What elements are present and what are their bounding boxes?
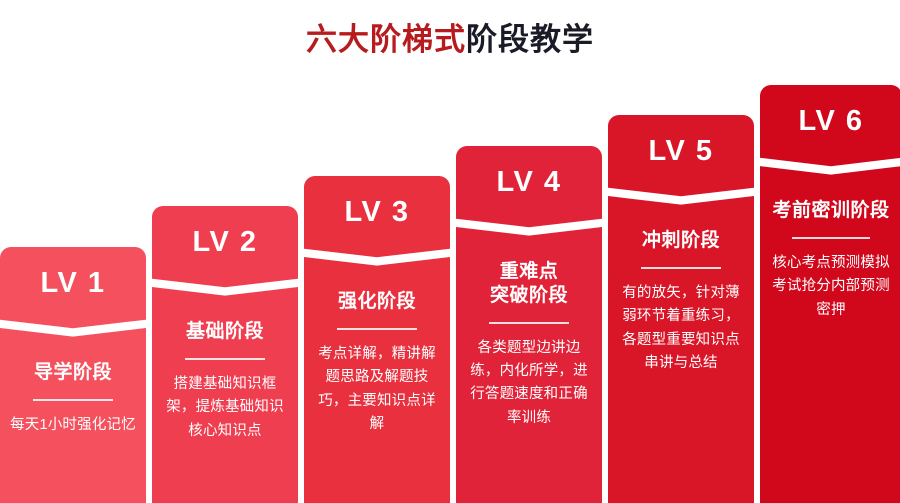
level-label: LV 4	[496, 168, 561, 197]
chevron-band	[456, 218, 602, 240]
ladder-step-header: LV 6	[760, 85, 900, 157]
stage-name: 强化阶段	[314, 290, 440, 314]
level-label: LV 6	[798, 107, 863, 136]
stage-name: 重难点突破阶段	[466, 260, 592, 308]
ladder-step-header: LV 3	[304, 176, 450, 248]
divider	[792, 237, 870, 239]
page-title-highlight: 六大阶梯式	[306, 22, 466, 57]
chevron-band	[608, 187, 754, 209]
ladder-step[interactable]: LV 4重难点突破阶段各类题型边讲边练，内化所学，进行答题速度和正确率训练	[456, 146, 602, 503]
ladder-step-body: 冲刺阶段有的放矢，针对薄弱环节着重练习，各题型重要知识点串讲与总结	[608, 209, 754, 376]
stage-name: 基础阶段	[162, 320, 288, 344]
divider	[185, 358, 266, 360]
chevron-band	[0, 319, 146, 341]
ladder-chart: LV 1导学阶段每天1小时强化记忆LV 2基础阶段搭建基础知识框架，提炼基础知识…	[0, 78, 900, 503]
chevron-notch-icon	[760, 157, 900, 179]
page-header: 六大阶梯式阶段教学	[0, 0, 900, 78]
ladder-step[interactable]: LV 3强化阶段考点详解，精讲解题思路及解题技巧，主要知识点详解	[304, 176, 450, 503]
stage-description: 搭建基础知识框架，提炼基础知识核心知识点	[162, 373, 288, 443]
stage-name: 冲刺阶段	[618, 229, 744, 253]
ladder-step-header: LV 4	[456, 146, 602, 218]
chevron-notch-icon	[608, 187, 754, 209]
ladder-step-body: 强化阶段考点详解，精讲解题思路及解题技巧，主要知识点详解	[304, 270, 450, 437]
chevron-notch-icon	[0, 319, 146, 341]
page-title: 六大阶梯式阶段教学	[306, 24, 594, 55]
ladder-step[interactable]: LV 1导学阶段每天1小时强化记忆	[0, 247, 146, 503]
chevron-band	[760, 157, 900, 179]
stage-name: 考前密训阶段	[770, 199, 892, 223]
ladder-step-body: 基础阶段搭建基础知识框架，提炼基础知识核心知识点	[152, 300, 298, 443]
level-label: LV 3	[344, 198, 409, 227]
stage-description: 核心考点预测模拟考试抢分内部预测密押	[770, 252, 892, 322]
level-label: LV 2	[192, 228, 257, 257]
stage-name: 导学阶段	[10, 361, 136, 385]
chevron-notch-icon	[304, 248, 450, 270]
ladder-step-body: 重难点突破阶段各类题型边讲边练，内化所学，进行答题速度和正确率训练	[456, 240, 602, 430]
divider	[489, 322, 570, 324]
chevron-band	[152, 278, 298, 300]
ladder-step-body: 导学阶段每天1小时强化记忆	[0, 341, 146, 437]
ladder-step-body: 考前密训阶段核心考点预测模拟考试抢分内部预测密押	[760, 179, 900, 322]
divider	[337, 328, 418, 330]
level-label: LV 1	[40, 269, 105, 298]
chevron-notch-icon	[456, 218, 602, 240]
level-label: LV 5	[648, 137, 713, 166]
page-title-rest: 阶段教学	[466, 22, 594, 57]
stage-description: 每天1小时强化记忆	[10, 414, 136, 437]
ladder-step[interactable]: LV 6考前密训阶段核心考点预测模拟考试抢分内部预测密押	[760, 85, 900, 503]
stage-description: 考点详解，精讲解题思路及解题技巧，主要知识点详解	[314, 343, 440, 437]
ladder-step-header: LV 1	[0, 247, 146, 319]
chevron-notch-icon	[152, 278, 298, 300]
chevron-band	[304, 248, 450, 270]
divider	[641, 267, 722, 269]
stage-description: 有的放矢，针对薄弱环节着重练习，各题型重要知识点串讲与总结	[618, 282, 744, 376]
ladder-step-header: LV 2	[152, 206, 298, 278]
stage-description: 各类题型边讲边练，内化所学，进行答题速度和正确率训练	[466, 337, 592, 431]
divider	[33, 399, 114, 401]
ladder-step[interactable]: LV 5冲刺阶段有的放矢，针对薄弱环节着重练习，各题型重要知识点串讲与总结	[608, 115, 754, 503]
ladder-step[interactable]: LV 2基础阶段搭建基础知识框架，提炼基础知识核心知识点	[152, 206, 298, 503]
ladder-step-header: LV 5	[608, 115, 754, 187]
